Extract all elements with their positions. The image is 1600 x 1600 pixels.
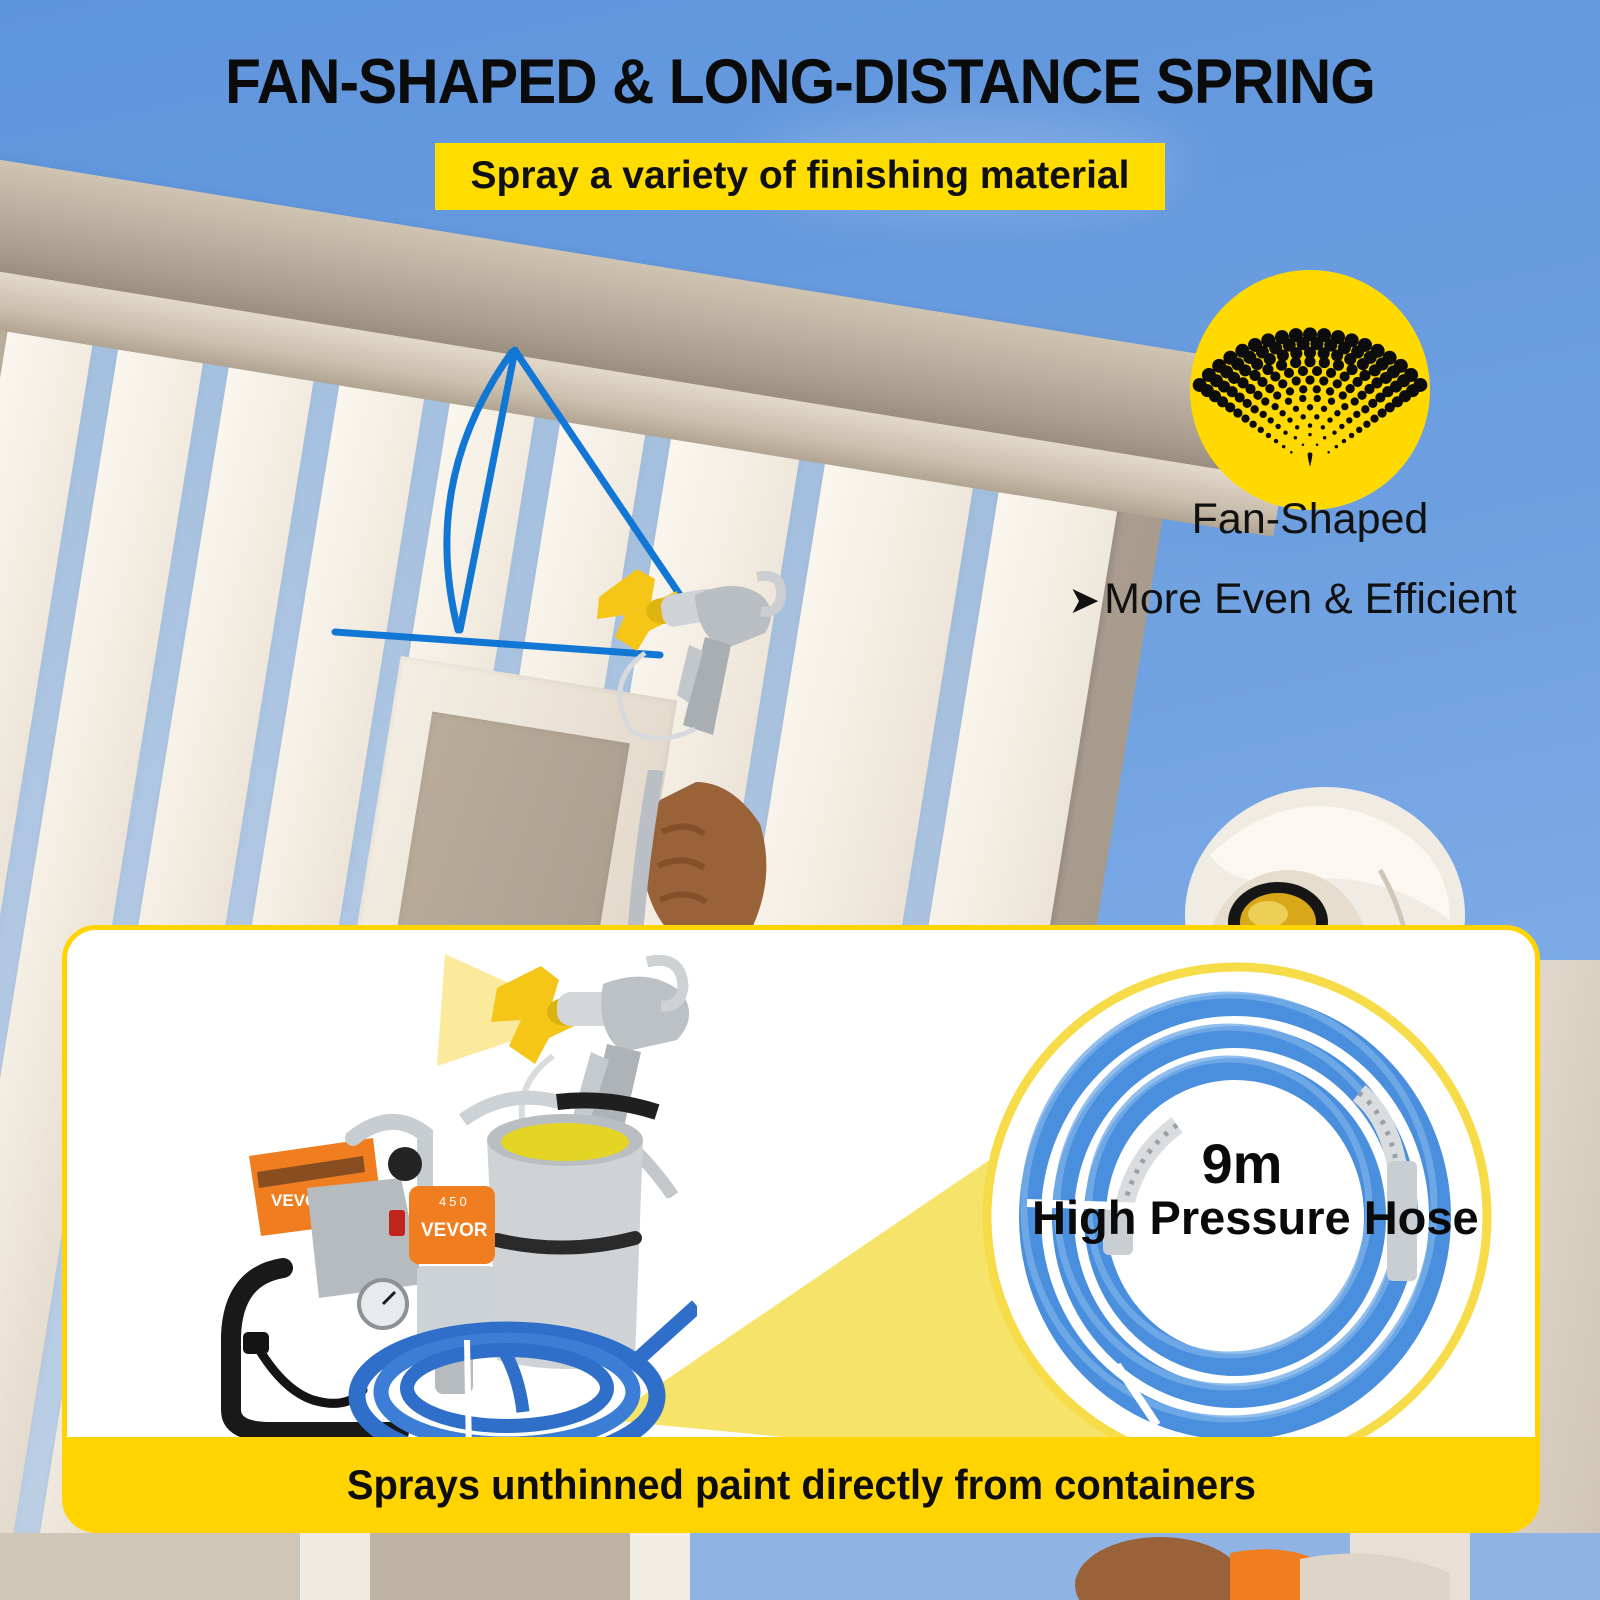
product-panel: VEVOR 450 VEVOR [62,925,1540,1507]
caption-text: Sprays unthinned paint directly from con… [346,1461,1255,1509]
pump-body [307,1178,423,1298]
diagram-arc [447,352,512,630]
strip-wall [0,1533,300,1600]
subtitle-container: Spray a variety of finishing material [0,143,1600,210]
hose-tie [1027,1203,1149,1207]
strip-baluster [630,1533,690,1600]
hose-callout [967,955,1507,1490]
product-panel-inner: VEVOR 450 VEVOR [67,930,1535,1502]
pump-brand-text: VEVOR [421,1220,488,1241]
pressure-knob [388,1147,422,1181]
hose-coupler [1103,1207,1133,1255]
power-plug [243,1332,269,1354]
goggles-glare [1248,901,1288,927]
fan-shaped-label: Fan-Shaped [1060,495,1560,544]
paint-surface [501,1123,629,1161]
pump-model-text: 450 [439,1194,470,1209]
strip-wall [370,1533,630,1600]
hose-tail [637,1306,697,1360]
bullet-arrow-icon: ➤ [1068,580,1100,622]
strip-baluster [300,1533,370,1600]
bullet-label: More Even & Efficient [1104,575,1517,623]
page-title: FAN-SHAPED & LONG-DISTANCE SPRING [56,46,1544,118]
power-switch [389,1210,405,1236]
hose-tie [467,1340,469,1452]
caption-bar: Sprays unthinned paint directly from con… [62,1437,1540,1533]
hose-coil [407,1350,607,1426]
fan-benefit-line: ➤More Even & Efficient [985,575,1600,624]
bottom-photo-strip [0,1533,1600,1600]
bottom-strip-art [0,1533,1600,1600]
fan-spray-badge [1190,270,1430,510]
suction-hose [557,1100,657,1112]
subtitle-banner: Spray a variety of finishing material [435,143,1166,210]
hose-coupler [1387,1161,1417,1281]
fan-spray-halftone-icon [1190,270,1430,510]
gun-body [601,977,689,1052]
